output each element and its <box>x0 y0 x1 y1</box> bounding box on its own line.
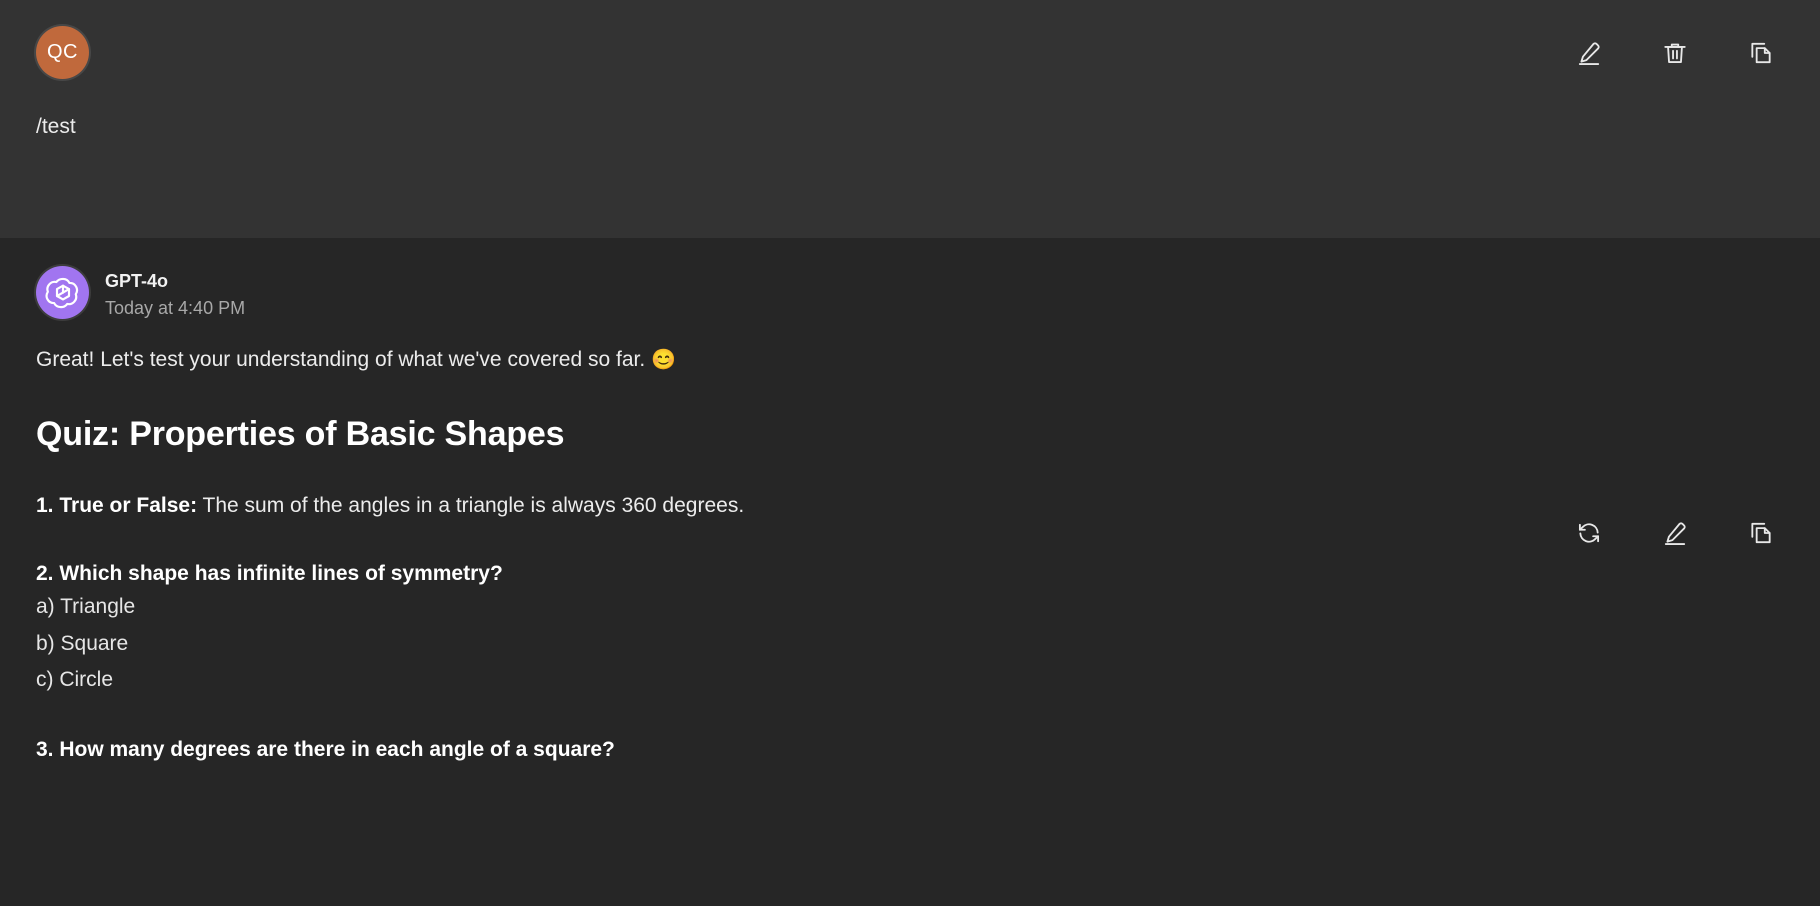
edit-icon[interactable] <box>1572 36 1606 70</box>
edit-icon[interactable] <box>1658 516 1692 550</box>
assistant-identity: GPT-4o Today at 4:40 PM <box>105 266 245 319</box>
question-2: 2. Which shape has infinite lines of sym… <box>36 558 1784 698</box>
option-b: b) Square <box>36 626 1784 662</box>
copy-icon[interactable] <box>1744 516 1778 550</box>
question-3: 3. How many degrees are there in each an… <box>36 734 1784 766</box>
user-message: QC /test <box>0 0 1820 238</box>
option-c: c) Circle <box>36 662 1784 698</box>
avatar[interactable] <box>36 266 89 319</box>
user-header: QC <box>36 26 1784 79</box>
question-1-text: The sum of the angles in a triangle is a… <box>197 494 744 517</box>
assistant-header: GPT-4o Today at 4:40 PM <box>36 266 1784 319</box>
intro-paragraph: Great! Let's test your understanding of … <box>36 345 1784 375</box>
assistant-message: GPT-4o Today at 4:40 PM <box>0 238 1820 906</box>
page-title: Quiz: Properties of Basic Shapes <box>36 415 1784 454</box>
question-2-prefix: 2. Which shape has infinite lines of sym… <box>36 562 503 585</box>
model-name: GPT-4o <box>105 270 245 293</box>
copy-icon[interactable] <box>1744 36 1778 70</box>
question-1: 1. True or False: The sum of the angles … <box>36 490 1784 522</box>
timestamp: Today at 4:40 PM <box>105 297 245 320</box>
question-1-prefix: 1. True or False: <box>36 494 197 517</box>
question-3-prefix: 3. How many degrees are there in each an… <box>36 738 615 761</box>
refresh-icon[interactable] <box>1572 516 1606 550</box>
intro-text: Great! Let's test your understanding of … <box>36 348 645 371</box>
delete-icon[interactable] <box>1658 36 1692 70</box>
assistant-action-bar <box>1572 516 1778 550</box>
openai-logo-icon <box>45 275 81 311</box>
assistant-body: Great! Let's test your understanding of … <box>36 345 1784 765</box>
question-2-options: a) Triangle b) Square c) Circle <box>36 589 1784 697</box>
avatar[interactable]: QC <box>36 26 89 79</box>
smiling-face-icon: 😊 <box>651 349 676 371</box>
option-a: a) Triangle <box>36 589 1784 625</box>
user-message-text: /test <box>36 115 1784 139</box>
user-action-bar <box>1572 36 1778 70</box>
